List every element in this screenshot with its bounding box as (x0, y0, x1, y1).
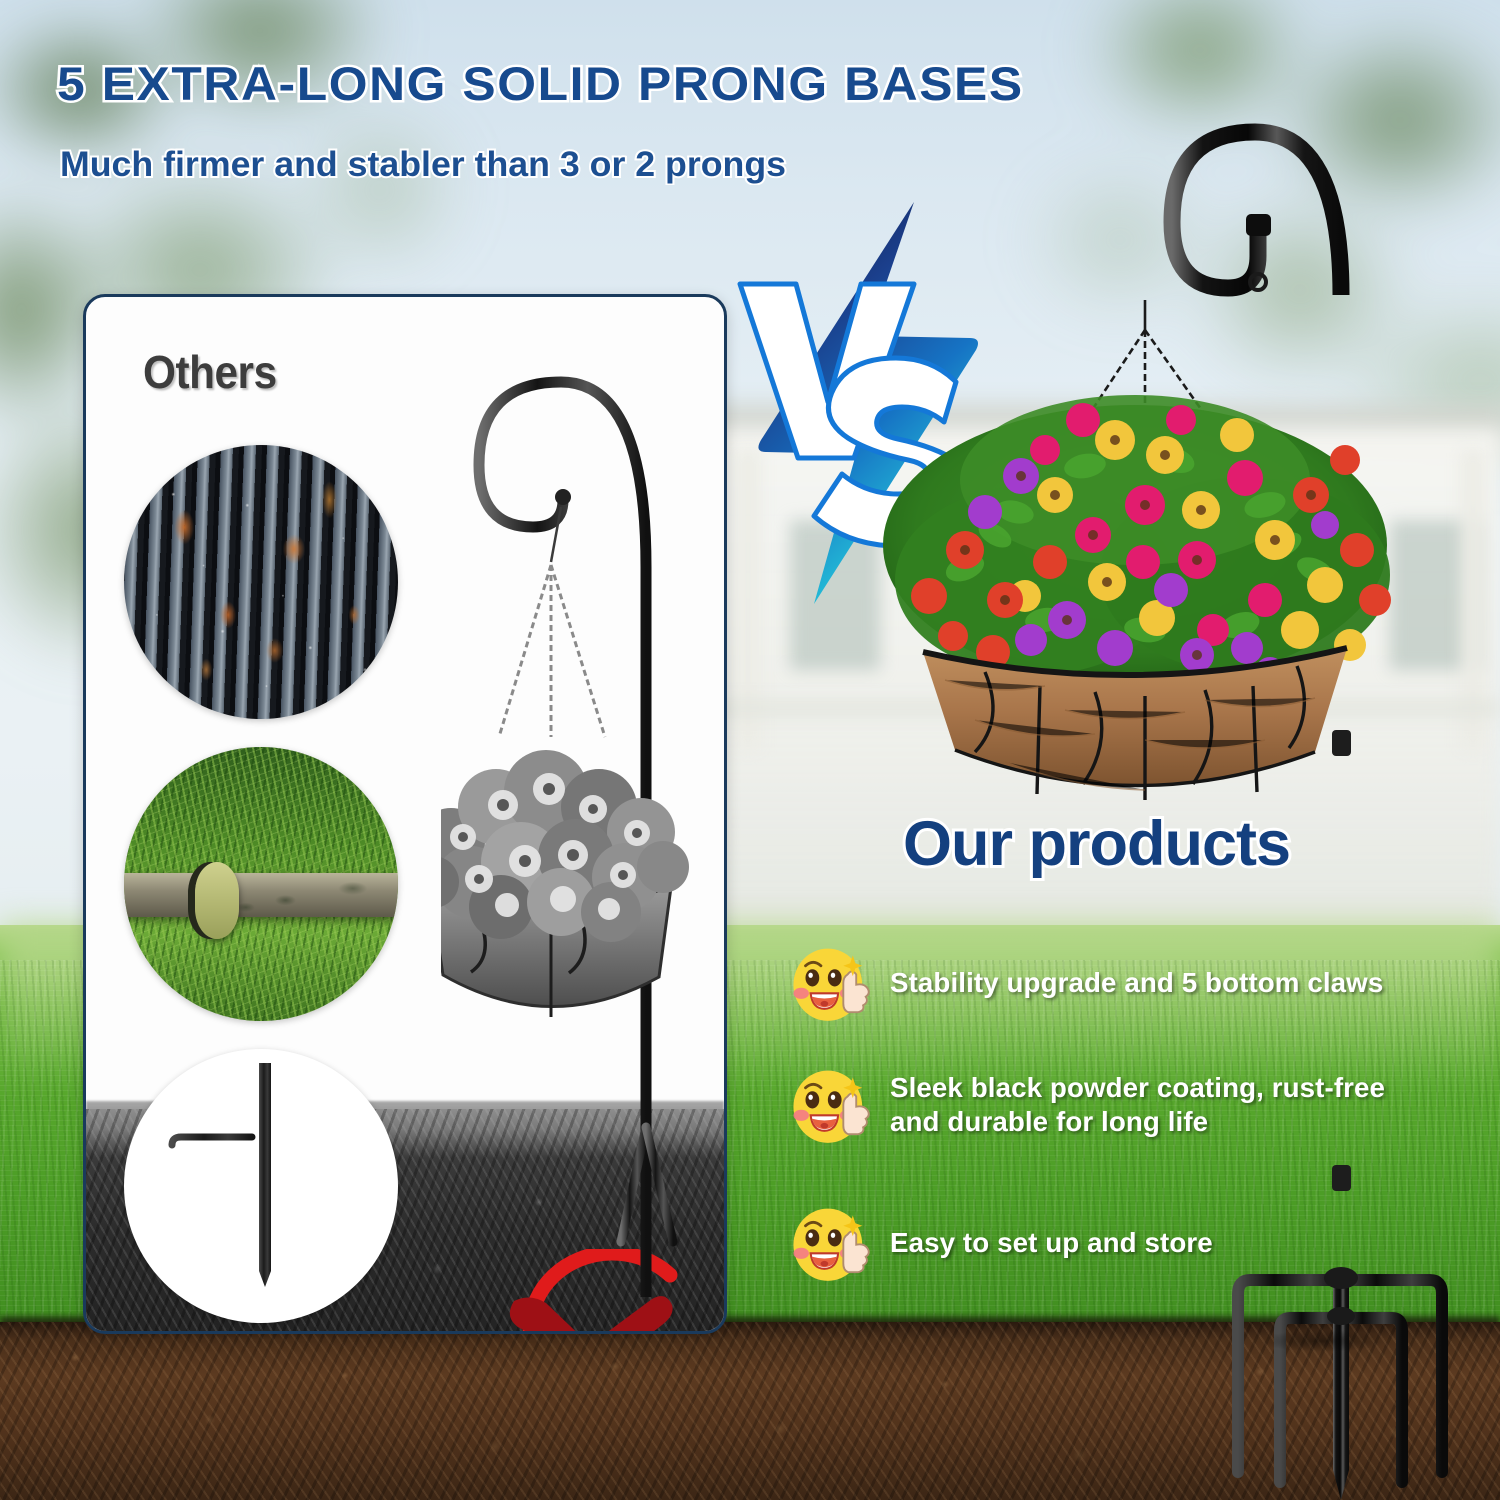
feature-text-3: Easy to set up and store (890, 1226, 1213, 1260)
smiley-thumbs-up-icon (790, 1200, 876, 1286)
rusty-wet-poles-photo (124, 445, 398, 719)
two-prong-stake-illustration (124, 1049, 398, 1323)
broken-pole (124, 873, 398, 917)
page-title: 5 EXTRA-LONG SOLID PRONG BASES (57, 56, 1024, 111)
our-products-title: Our products (903, 808, 1290, 880)
feature-item-1: Stability upgrade and 5 bottom claws (790, 940, 1430, 1026)
pole-weathering (124, 873, 398, 917)
feature-text-2: Sleek black powder coating, rust-free an… (890, 1071, 1430, 1139)
feature-item-3: Easy to set up and store (790, 1200, 1410, 1286)
page-subtitle: Much firmer and stabler than 3 or 2 pron… (60, 145, 786, 185)
pole-ground-shadow (1258, 1330, 1388, 1352)
grayscale-shepherd-hook-illustration (441, 337, 721, 1297)
product-infographic: 5 EXTRA-LONG SOLID PRONG BASES Much firm… (0, 0, 1500, 1500)
hanging-flower-basket (845, 300, 1425, 800)
smiley-thumbs-up-icon (790, 1062, 876, 1148)
others-comparison-card: Others (83, 294, 727, 1334)
others-label: Others (143, 345, 277, 399)
water-droplets (124, 445, 398, 719)
broken-pole-in-grass-photo (124, 747, 398, 1021)
feature-text-1: Stability upgrade and 5 bottom claws (890, 966, 1383, 1000)
pole-break-point (195, 862, 239, 939)
smiley-thumbs-up-icon (790, 940, 876, 1026)
feature-item-2: Sleek black powder coating, rust-free an… (790, 1062, 1440, 1148)
